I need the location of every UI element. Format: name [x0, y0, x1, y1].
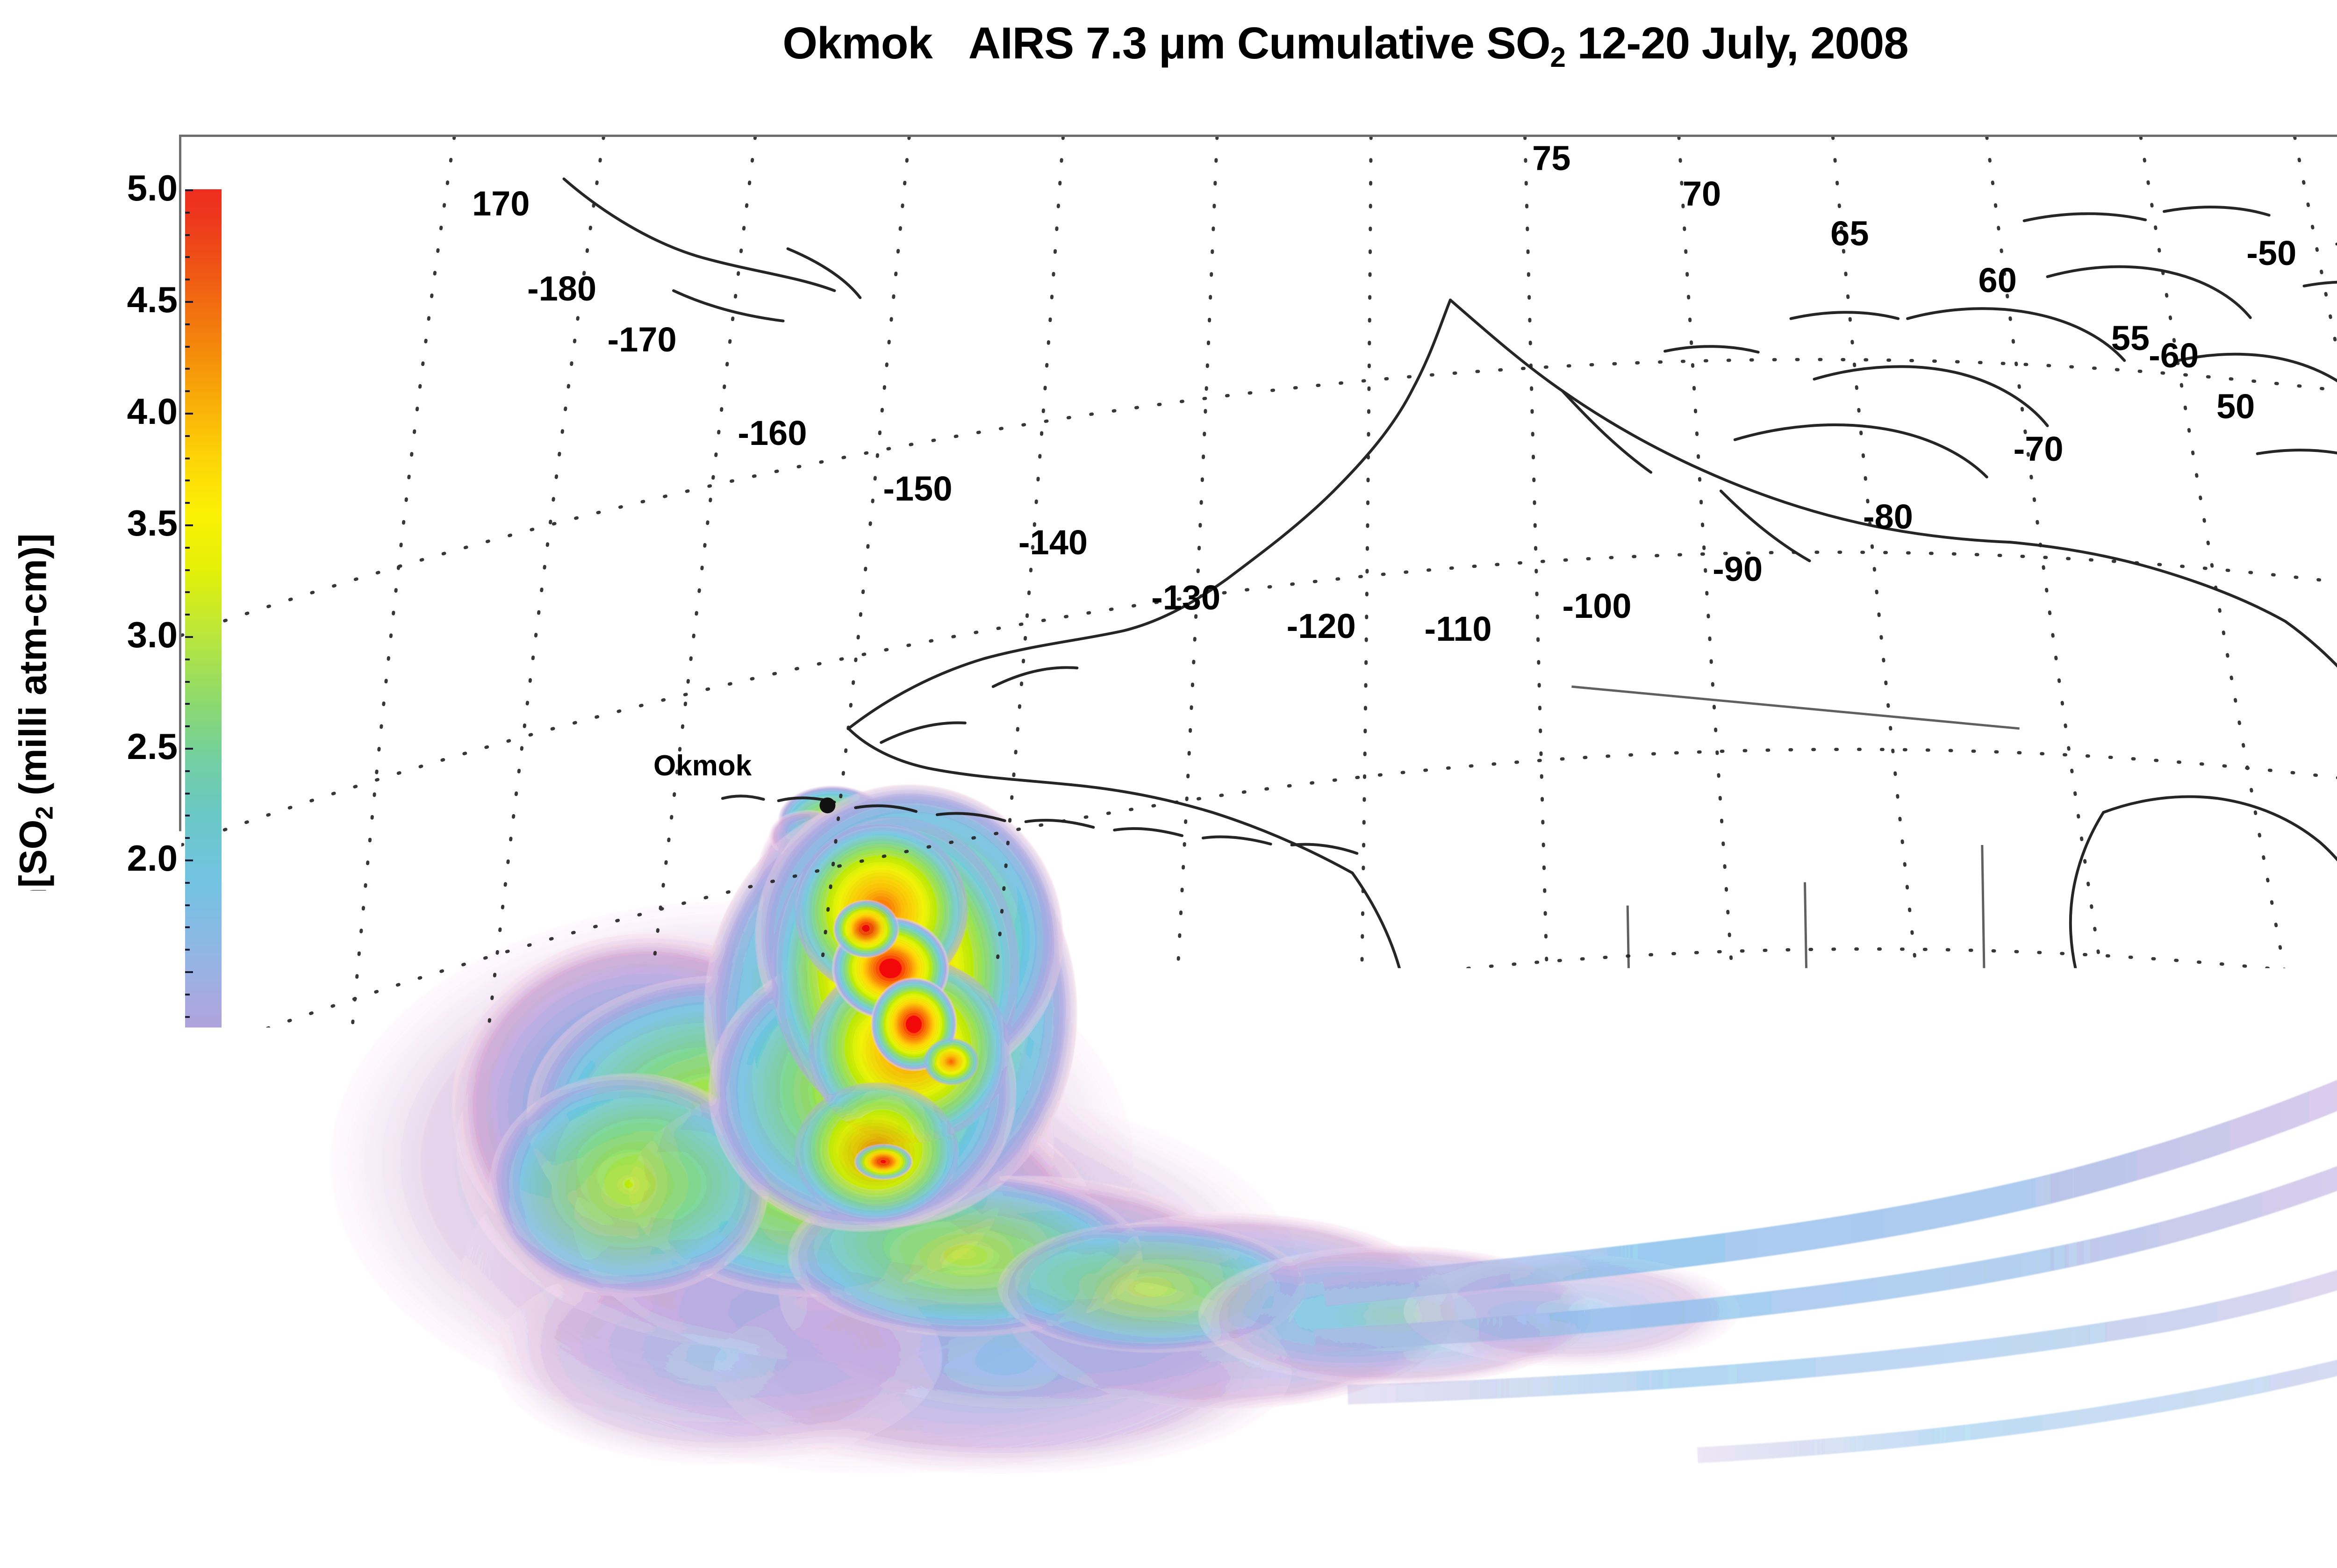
colorbar-minor-tick — [185, 502, 190, 504]
colorbar-minor-tick — [185, 591, 190, 593]
colorbar-major-tick — [185, 1195, 193, 1196]
colorbar-minor-tick — [185, 390, 190, 392]
graticule-label-longitude: 170 — [472, 186, 530, 221]
colorbar-major-tick — [185, 301, 193, 303]
colorbar-minor-tick — [185, 458, 190, 459]
colorbar-minor-tick — [185, 703, 190, 705]
graticule-label-longitude: -50 — [2246, 236, 2296, 271]
graticule-label-longitude: -150 — [883, 472, 952, 506]
colorbar-minor-tick — [185, 435, 190, 437]
colorbar-minor-tick — [185, 1217, 190, 1219]
colorbar-tick-label: 5.0 — [127, 170, 178, 206]
colorbar-major-tick — [185, 189, 193, 191]
graticule-label-latitude: 70 — [1683, 177, 1721, 211]
processing-credit: Processed by NILU [fred.prata@nilu.no] — [290, 1483, 785, 1513]
colorbar-minor-tick — [185, 1128, 190, 1130]
colorbar-tick-label: 3.5 — [127, 505, 178, 541]
colorbar-minor-tick — [185, 1038, 190, 1040]
colorbar-minor-tick — [185, 815, 190, 816]
colorbar-minor-tick — [185, 1105, 190, 1107]
figure-title: Okmok AIRS 7.3 μm Cumulative SO2 12-20 J… — [0, 18, 2337, 73]
colorbar-tick-label: 4.0 — [127, 393, 178, 430]
colorbar-minor-tick — [185, 212, 190, 214]
colorbar-minor-tick — [185, 1150, 190, 1152]
so2-plume-layer — [330, 784, 2337, 1474]
title-volcano: Okmok — [782, 18, 932, 68]
colorbar-minor-tick — [185, 793, 190, 795]
graticule-label-longitude: -90 — [1713, 552, 1763, 587]
colorbar-axis-label: Ln[SO2 (milli atm-cm)] — [12, 220, 59, 1248]
colorbar — [185, 189, 222, 1306]
graticule-label-longitude: -100 — [1562, 589, 1631, 623]
colorbar-tick-label: 1.5 — [127, 952, 178, 988]
colorbar-minor-tick — [185, 368, 190, 370]
graticule-label-longitude: -60 — [2149, 338, 2199, 373]
graticule-label-longitude: -110 — [1425, 612, 1492, 646]
colorbar-minor-tick — [185, 1016, 190, 1018]
graticule-label-latitude: 75 — [1532, 141, 1570, 176]
colorbar-minor-tick — [185, 837, 190, 839]
colorbar-major-tick — [185, 524, 193, 526]
colorbar-major-tick — [185, 1306, 193, 1308]
graticule-label-latitude: 60 — [1979, 263, 2017, 298]
colorbar-ticks — [185, 189, 193, 1306]
graticule-label-longitude: -70 — [2014, 432, 2064, 466]
colorbar-minor-tick — [185, 770, 190, 772]
colorbar-tick-labels: 5.04.54.03.53.02.52.01.51.00.50.0 — [56, 189, 178, 1306]
graticule-label-latitude: 55 — [2111, 321, 2150, 356]
colorbar-minor-tick — [185, 994, 190, 995]
graticule-label-latitude: 50 — [2216, 389, 2255, 424]
colorbar-minor-tick — [185, 725, 190, 727]
colorbar-major-tick — [185, 748, 193, 750]
colorbar-minor-tick — [185, 279, 190, 280]
colorbar-minor-tick — [185, 1239, 190, 1241]
graticule-label-longitude: -170 — [608, 322, 677, 357]
political-border-layer — [1483, 687, 2272, 1549]
title-instrument: AIRS 7.3 — [968, 18, 1159, 68]
colorbar-minor-tick — [185, 1172, 190, 1174]
graticule-label-longitude: -180 — [527, 272, 596, 306]
colorbar-tick-label: 0.5 — [127, 1175, 178, 1211]
colorbar-tick-label: 0.0 — [127, 1287, 178, 1323]
okmok-marker — [819, 797, 835, 813]
colorbar-minor-tick — [185, 323, 190, 325]
colorbar-tick-label: 1.0 — [127, 1063, 178, 1100]
graticule-label-longitude: -160 — [738, 416, 807, 451]
colorbar-minor-tick — [185, 234, 190, 236]
colorbar-major-tick — [185, 859, 193, 861]
colorbar-minor-tick — [185, 1060, 190, 1062]
graticule-label-latitude: 65 — [1830, 216, 1869, 251]
colorbar-minor-tick — [185, 681, 190, 683]
colorbar-minor-tick — [185, 346, 190, 348]
graticule-label-longitude: -80 — [1863, 500, 1913, 534]
colorbar-minor-tick — [185, 1261, 190, 1263]
colorbar-major-tick — [185, 413, 193, 415]
colorbar-tick-label: 3.0 — [127, 616, 178, 653]
colorbar-minor-tick — [185, 926, 190, 928]
graticule-label-longitude: -140 — [1018, 525, 1088, 560]
colorbar-tick-label: 2.0 — [127, 840, 178, 876]
colorbar-major-tick — [185, 636, 193, 638]
colorbar-minor-tick — [185, 949, 190, 951]
graticule-label-longitude: -130 — [1151, 580, 1220, 615]
title-quantity: Cumulative SO — [1225, 18, 1550, 68]
colorbar-minor-tick — [185, 1284, 190, 1286]
colorbar-minor-tick — [185, 659, 190, 660]
colorbar-minor-tick — [185, 547, 190, 549]
colorbar-minor-tick — [185, 569, 190, 571]
graticule-label-longitude: -120 — [1287, 609, 1356, 644]
colorbar-minor-tick — [185, 480, 190, 481]
colorbar-tick-label: 2.5 — [127, 728, 178, 765]
colorbar-minor-tick — [185, 904, 190, 906]
title-mu: μm — [1159, 18, 1225, 68]
map-canvas — [181, 137, 2337, 1549]
title-dates: 12-20 July, 2008 — [1565, 18, 1908, 68]
map-plot-frame: Okmok Processed by NILU [fred.prata@nilu… — [179, 135, 2337, 1552]
colorbar-minor-tick — [185, 882, 190, 884]
colorbar-major-tick — [185, 971, 193, 973]
colorbar-minor-tick — [185, 256, 190, 258]
okmok-label: Okmok — [653, 749, 752, 782]
colorbar-tick-label: 4.5 — [127, 281, 178, 318]
colorbar-minor-tick — [185, 614, 190, 616]
colorbar-major-tick — [185, 1083, 193, 1085]
title-subscript: 2 — [1550, 42, 1565, 73]
